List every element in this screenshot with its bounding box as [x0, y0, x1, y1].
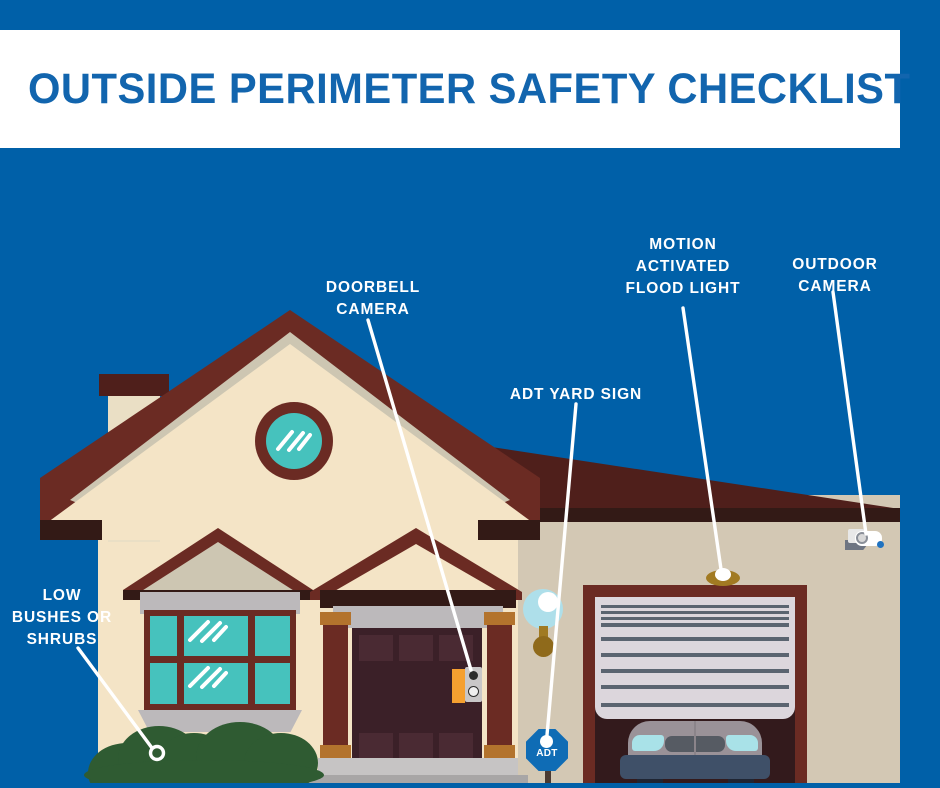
garage-door-slat [601, 637, 789, 641]
garage-door[interactable] [595, 597, 795, 719]
front-door-panel [399, 635, 433, 661]
garage-door-slat [601, 703, 789, 707]
bay-window-pane [150, 663, 177, 704]
label-low-bushes: LOW BUSHES OR SHRUBS [0, 585, 132, 651]
portico-header-band [333, 606, 503, 628]
garage-door-slat [601, 611, 789, 614]
title-banner: OUTSIDE PERIMETER SAFETY CHECKLIST [0, 30, 900, 148]
bay-window-pane [255, 663, 290, 704]
doorbell-accent-strip [452, 669, 465, 703]
bay-window-gable-roof [123, 528, 313, 600]
garage-door-slat [601, 605, 789, 608]
garage-door-slat [601, 653, 789, 657]
label-doorbell-camera-line2: CAMERA [283, 299, 463, 321]
adt-sign-logo-dot-icon [540, 735, 553, 748]
doorbell-button-icon[interactable] [468, 686, 479, 697]
outdoor-camera-indicator-dot [877, 541, 884, 548]
front-doorstep-upper [318, 758, 518, 775]
garage-door-slat [601, 617, 789, 620]
label-outdoor-camera-line2: CAMERA [745, 276, 925, 298]
bay-window-pane [255, 616, 290, 656]
car-headlight-left [632, 735, 664, 751]
attic-window-shine-icon [272, 425, 316, 459]
bay-window-shine-upper-icon [186, 618, 230, 646]
bay-window-pane [150, 616, 177, 656]
portico-column-left-base [320, 745, 351, 758]
label-low-bushes-line1: LOW [0, 585, 132, 607]
adt-sign-text: ADT [526, 748, 568, 759]
label-outdoor-camera: OUTDOOR CAMERA [745, 254, 925, 298]
infographic-canvas: OUTSIDE PERIMETER SAFETY CHECKLIST [0, 0, 940, 788]
car-headlight-right [726, 735, 758, 751]
bay-window-shine-lower-icon [186, 664, 230, 692]
garage-door-slat [601, 685, 789, 689]
doorbell-camera-lens-icon [469, 671, 478, 680]
outdoor-camera-lens-icon [856, 532, 868, 544]
label-outdoor-camera-line1: OUTDOOR [745, 254, 925, 276]
page-title: OUTSIDE PERIMETER SAFETY CHECKLIST [28, 65, 910, 114]
label-adt-yard-sign-line1: ADT YARD SIGN [486, 384, 666, 406]
label-doorbell-camera-line1: DOORBELL [283, 277, 463, 299]
portico-column-right-base [484, 745, 515, 758]
flood-light-lamp-icon [715, 568, 731, 581]
porch-light-base [533, 636, 554, 657]
front-door-panel [359, 635, 393, 661]
garage-door-slat [601, 623, 789, 627]
ground-strip [0, 783, 940, 788]
portico-column-left-capital [320, 612, 351, 625]
front-door-panel [439, 635, 473, 661]
label-low-bushes-line3: SHRUBS [0, 629, 132, 651]
car-bumper [620, 755, 770, 779]
label-motion-flood-light-line1: MOTION [593, 234, 773, 256]
label-doorbell-camera: DOORBELL CAMERA [283, 277, 463, 321]
portico-column-right-capital [484, 612, 515, 625]
garage-door-slat [601, 669, 789, 673]
label-adt-yard-sign: ADT YARD SIGN [486, 384, 666, 406]
porch-light-bulb-icon [538, 592, 558, 612]
label-low-bushes-line2: BUSHES OR [0, 607, 132, 629]
